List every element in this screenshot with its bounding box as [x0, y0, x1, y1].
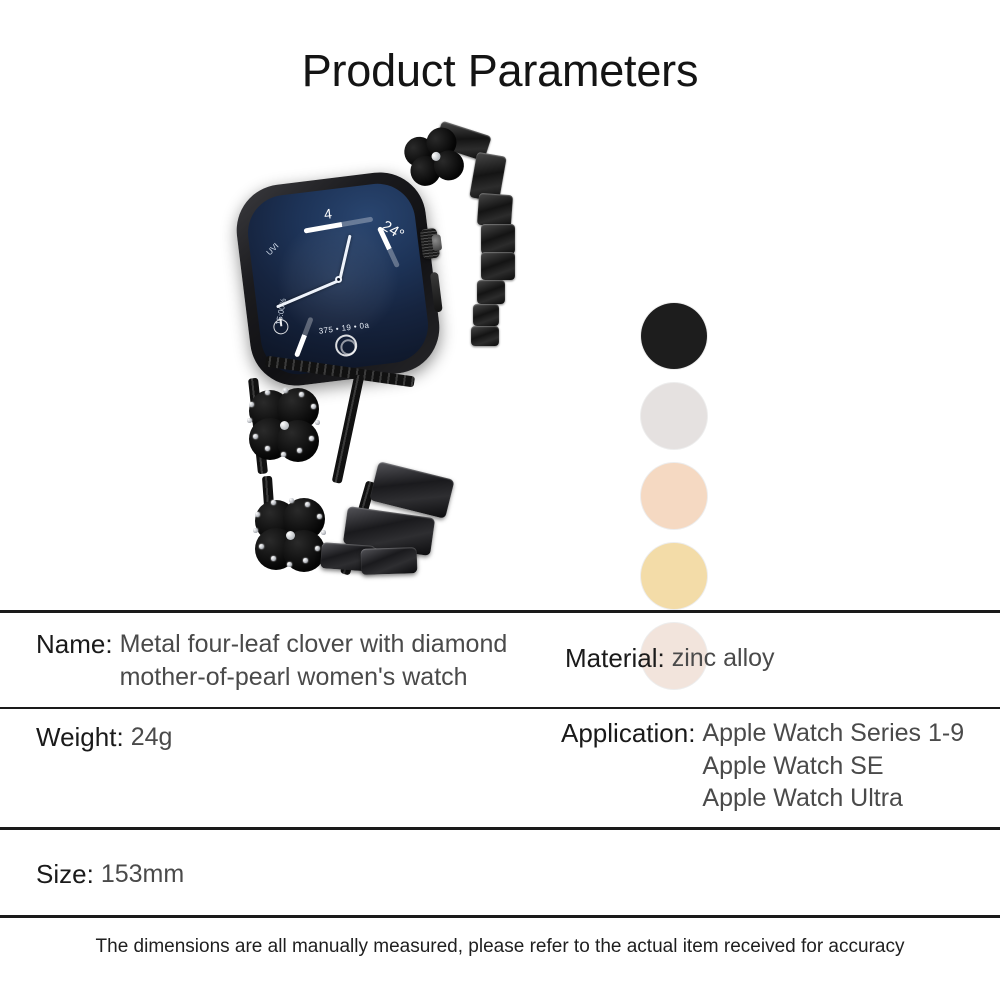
color-swatch-gold[interactable] [641, 543, 707, 609]
clover-charm-1 [247, 388, 321, 462]
table-divider-2 [0, 827, 1000, 830]
spec-value-name-line-2: mother-of-pearl women's watch [120, 661, 508, 694]
spec-value-material: zinc alloy [672, 642, 775, 675]
spec-label-material: Material: [565, 642, 665, 675]
spec-value-application: Apple Watch Series 1-9 Apple Watch SE Ap… [702, 717, 964, 815]
spec-label-name: Name: [36, 628, 113, 661]
spec-row-name: Name: Metal four-leaf clover with diamon… [36, 628, 536, 693]
spec-value-application-line-3: Apple Watch Ultra [702, 782, 964, 815]
table-divider-1 [0, 707, 1000, 709]
side-button [430, 272, 443, 313]
watch-stage: UVI 4 24° 15:00% 375 • 19 • 0a [225, 120, 555, 600]
hands-pivot [334, 275, 342, 283]
spec-label-weight: Weight: [36, 721, 124, 754]
spec-row-application: Application: Apple Watch Series 1-9 Appl… [561, 717, 991, 815]
activity-ring-icon [334, 333, 359, 358]
spec-value-application-line-2: Apple Watch SE [702, 750, 964, 783]
spec-value-name: Metal four-leaf clover with diamond moth… [120, 628, 508, 693]
uvi-value: 4 [323, 205, 333, 222]
band-link-upper-8 [471, 326, 499, 346]
spec-row-size: Size: 153mm [36, 858, 536, 891]
page-title: Product Parameters [0, 45, 1000, 97]
spec-value-application-line-1: Apple Watch Series 1-9 [702, 717, 964, 750]
color-swatch-silver[interactable] [641, 383, 707, 449]
band-chain-mid-vertical [332, 374, 365, 484]
table-bottom-border [0, 915, 1000, 918]
spec-label-application: Application: [561, 717, 695, 750]
band-link-upper-4 [481, 224, 515, 254]
clasp-link-2 [361, 547, 418, 575]
clover-charm-2 [253, 498, 327, 572]
table-top-border [0, 610, 1000, 613]
spec-label-size: Size: [36, 858, 94, 891]
spec-value-name-line-1: Metal four-leaf clover with diamond [120, 628, 508, 661]
watch-case: UVI 4 24° 15:00% 375 • 19 • 0a [231, 167, 444, 391]
watch-screen: UVI 4 24° 15:00% 375 • 19 • 0a [244, 179, 433, 378]
color-swatch-rose-gold[interactable] [641, 463, 707, 529]
spec-value-weight: 24g [131, 721, 173, 754]
uvi-label: UVI [265, 241, 281, 257]
measurement-disclaimer: The dimensions are all manually measured… [0, 936, 1000, 958]
spec-row-material: Material: zinc alloy [565, 642, 985, 675]
band-link-upper-6 [477, 280, 505, 304]
spec-value-size: 153mm [101, 858, 184, 891]
product-parameters-page: Product Parameters [0, 0, 1000, 1000]
digital-crown [420, 228, 441, 260]
band-link-upper-3 [477, 193, 513, 227]
color-swatch-black[interactable] [641, 303, 707, 369]
band-link-upper-7 [473, 304, 499, 326]
band-link-upper-5 [481, 252, 515, 280]
product-image: UVI 4 24° 15:00% 375 • 19 • 0a [0, 110, 1000, 600]
spec-row-weight: Weight: 24g [36, 721, 536, 754]
